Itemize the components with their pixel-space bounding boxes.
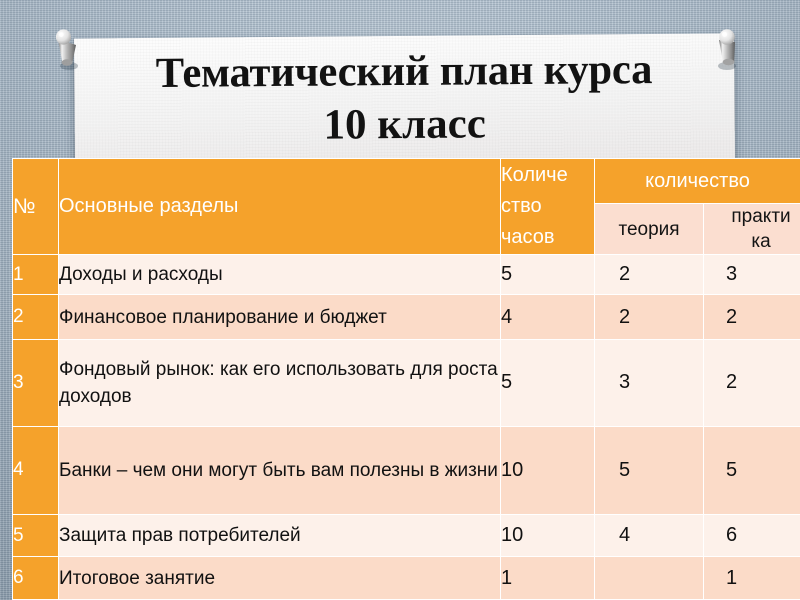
page-title-line-2: 10 класс <box>323 99 486 150</box>
row-number: 6 <box>13 557 59 600</box>
table-row: 3 Фондовый рынок: как его использовать д… <box>13 339 800 426</box>
header-row-top: № Основные разделы Количе ство часов кол… <box>13 159 800 204</box>
row-practice: 6 <box>704 515 800 557</box>
row-hours: 4 <box>501 295 595 340</box>
row-number: 3 <box>13 339 59 426</box>
course-plan-table: № Основные разделы Количе ство часов кол… <box>12 158 800 600</box>
row-number: 2 <box>13 295 59 340</box>
row-practice: 2 <box>704 339 800 426</box>
row-theory: 2 <box>595 295 704 340</box>
row-hours: 1 <box>501 557 595 600</box>
row-theory: 5 <box>595 426 704 514</box>
row-number: 4 <box>13 426 59 514</box>
row-section: Финансовое планирование и бюджет <box>59 295 501 340</box>
row-hours: 10 <box>501 426 595 514</box>
row-section: Банки – чем они могут быть вам полезны в… <box>59 426 501 514</box>
course-plan-table-wrapper: № Основные разделы Количе ство часов кол… <box>12 158 800 600</box>
table-header: № Основные разделы Количе ство часов кол… <box>13 159 800 255</box>
table-row: 5 Защита прав потребителей 10 4 6 <box>13 515 800 557</box>
row-practice: 5 <box>704 426 800 514</box>
slide-canvas: Тематический план курса 10 класс <box>0 0 800 600</box>
title-block: Тематический план курса 10 класс <box>74 33 735 164</box>
header-theory: теория <box>595 204 704 255</box>
header-practice: практи ка <box>704 204 800 255</box>
row-theory: 3 <box>595 339 704 426</box>
table-body: 1 Доходы и расходы 5 2 3 2 Финансовое пл… <box>13 255 800 600</box>
row-theory: 2 <box>595 255 704 295</box>
row-section: Доходы и расходы <box>59 255 501 295</box>
row-section: Итоговое занятие <box>59 557 501 600</box>
row-hours: 10 <box>501 515 595 557</box>
table-row: 2 Финансовое планирование и бюджет 4 2 2 <box>13 295 800 340</box>
row-section: Защита прав потребителей <box>59 515 501 557</box>
row-practice: 2 <box>704 295 800 340</box>
header-quantity-group: количество <box>595 159 800 204</box>
row-theory <box>595 557 704 600</box>
header-sections: Основные разделы <box>59 159 501 255</box>
row-number: 5 <box>13 515 59 557</box>
title-paper: Тематический план курса 10 класс <box>74 33 735 164</box>
header-hours: Количе ство часов <box>501 159 595 255</box>
page-title-line-1: Тематический план курса <box>156 42 653 102</box>
row-hours: 5 <box>501 255 595 295</box>
header-number: № <box>13 159 59 255</box>
row-number: 1 <box>13 255 59 295</box>
table-row: 4 Банки – чем они могут быть вам полезны… <box>13 426 800 514</box>
row-section: Фондовый рынок: как его использовать для… <box>59 339 501 426</box>
row-practice: 1 <box>704 557 800 600</box>
row-hours: 5 <box>501 339 595 426</box>
table-row: 1 Доходы и расходы 5 2 3 <box>13 255 800 295</box>
row-theory: 4 <box>595 515 704 557</box>
table-row: 6 Итоговое занятие 1 1 <box>13 557 800 600</box>
row-practice: 3 <box>704 255 800 295</box>
